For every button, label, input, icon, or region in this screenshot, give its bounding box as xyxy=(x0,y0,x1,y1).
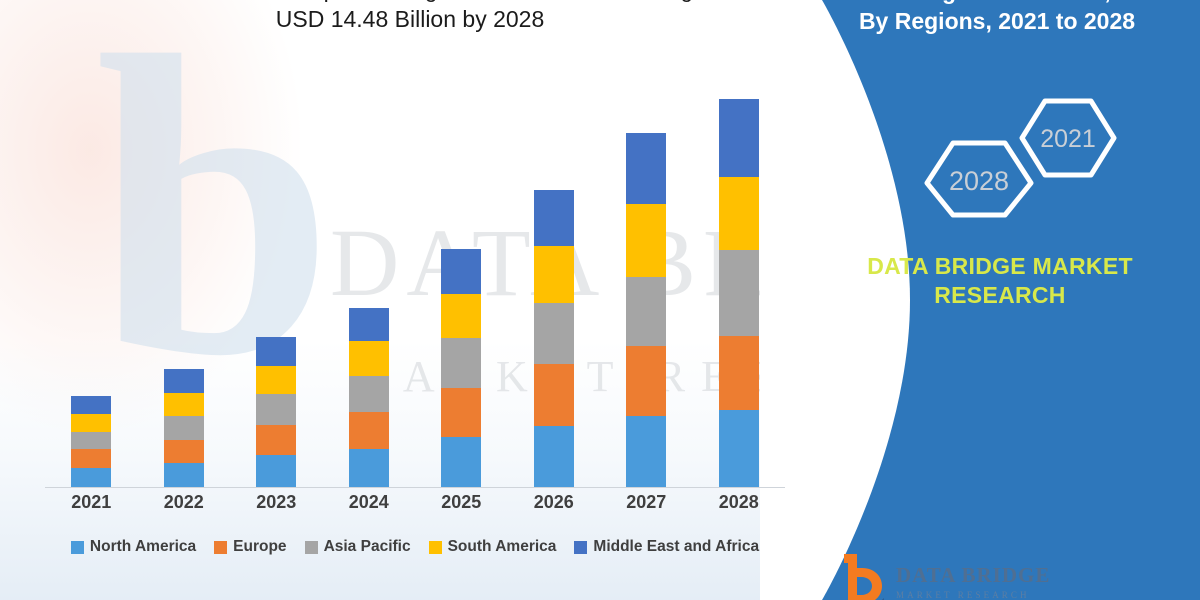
bar-segment[interactable] xyxy=(626,346,666,417)
bar-segment[interactable] xyxy=(626,277,666,345)
bar-segment[interactable] xyxy=(256,394,296,425)
legend-item[interactable]: Europe xyxy=(214,538,286,556)
bar-segment[interactable] xyxy=(534,364,574,425)
bar-slot xyxy=(606,90,687,487)
x-axis-tick-2024: 2024 xyxy=(328,492,409,522)
bar-segment[interactable] xyxy=(71,449,111,468)
legend-swatch-icon xyxy=(574,541,587,554)
footer-logo-text: DATA BRIDGE MARKET RESEARCH xyxy=(896,563,1050,600)
footer-logo-name: DATA BRIDGE xyxy=(896,563,1050,588)
footer-logo: DATA BRIDGE MARKET RESEARCH xyxy=(838,552,1050,600)
legend-label: North America xyxy=(90,538,196,556)
bar-segment[interactable] xyxy=(256,455,296,487)
brand-line-2: RESEARCH xyxy=(810,281,1190,310)
bar-slot xyxy=(698,90,779,487)
bar-segment[interactable] xyxy=(71,468,111,487)
chart-x-axis: 20212022202320242025202620272028 xyxy=(45,492,785,522)
infographic-canvas: b DATA BRIDGE MARKET RESEARCH Global mar… xyxy=(0,0,1200,600)
bar-segment[interactable] xyxy=(71,414,111,432)
x-axis-tick-2022: 2022 xyxy=(143,492,224,522)
bar-slot xyxy=(51,90,132,487)
bar-segment[interactable] xyxy=(349,341,389,376)
legend-item[interactable]: Asia Pacific xyxy=(305,538,411,556)
stacked-bar-2026[interactable] xyxy=(534,190,574,487)
bar-segment[interactable] xyxy=(349,449,389,487)
page-title: Global market is expected to grow at a C… xyxy=(40,0,780,34)
bar-segment[interactable] xyxy=(719,410,759,487)
legend-label: Asia Pacific xyxy=(324,538,411,556)
brand-line-1: DATA BRIDGE MARKET xyxy=(810,252,1190,281)
legend-label: Middle East and Africa xyxy=(593,538,759,556)
hexagon-2021-label: 2021 xyxy=(1040,125,1096,153)
bar-slot xyxy=(328,90,409,487)
bar-segment[interactable] xyxy=(534,303,574,364)
b-mark-icon xyxy=(838,552,886,600)
bar-segment[interactable] xyxy=(256,425,296,456)
legend-swatch-icon xyxy=(214,541,227,554)
bar-segment[interactable] xyxy=(719,250,759,336)
bar-segment[interactable] xyxy=(256,366,296,394)
bar-segment[interactable] xyxy=(626,133,666,204)
bar-segment[interactable] xyxy=(441,388,481,438)
bar-segment[interactable] xyxy=(626,416,666,487)
x-axis-tick-2028: 2028 xyxy=(698,492,779,522)
stacked-bar-2022[interactable] xyxy=(164,369,204,487)
bar-segment[interactable] xyxy=(256,337,296,365)
bar-segment[interactable] xyxy=(164,369,204,393)
stacked-bar-2027[interactable] xyxy=(626,133,666,487)
bar-segment[interactable] xyxy=(534,426,574,487)
hexagon-2028-label: 2028 xyxy=(949,166,1009,196)
bar-slot xyxy=(513,90,594,487)
x-axis-tick-2021: 2021 xyxy=(51,492,132,522)
stacked-bar-chart xyxy=(45,90,785,488)
x-axis-tick-2026: 2026 xyxy=(513,492,594,522)
x-axis-tick-2023: 2023 xyxy=(236,492,317,522)
legend-item[interactable]: Middle East and Africa xyxy=(574,538,759,556)
headline-line-2: USD 14.48 Billion by 2028 xyxy=(40,4,780,34)
legend-swatch-icon xyxy=(305,541,318,554)
bar-segment[interactable] xyxy=(719,99,759,177)
stacked-bar-2025[interactable] xyxy=(441,249,481,487)
legend-item[interactable]: North America xyxy=(71,538,196,556)
bar-segment[interactable] xyxy=(71,396,111,414)
stacked-bar-2023[interactable] xyxy=(256,337,296,487)
bar-segment[interactable] xyxy=(626,204,666,277)
bar-segment[interactable] xyxy=(164,393,204,417)
bar-segment[interactable] xyxy=(719,336,759,410)
bar-segment[interactable] xyxy=(164,440,204,464)
bar-segment[interactable] xyxy=(534,246,574,303)
bar-segment[interactable] xyxy=(534,190,574,247)
bar-segment[interactable] xyxy=(441,338,481,388)
chart-plot-area xyxy=(45,90,785,488)
bar-segment[interactable] xyxy=(349,412,389,450)
legend-swatch-icon xyxy=(71,541,84,554)
bar-slot xyxy=(421,90,502,487)
legend-label: South America xyxy=(448,538,557,556)
stacked-bar-2028[interactable] xyxy=(719,99,759,487)
bar-segment[interactable] xyxy=(349,376,389,411)
chart-legend: North AmericaEuropeAsia PacificSouth Ame… xyxy=(45,538,785,556)
legend-label: Europe xyxy=(233,538,286,556)
bar-slot xyxy=(143,90,224,487)
bar-segment[interactable] xyxy=(164,416,204,440)
stacked-bar-2021[interactable] xyxy=(71,396,111,487)
stacked-bar-2024[interactable] xyxy=(349,308,389,487)
bar-segment[interactable] xyxy=(719,177,759,250)
bar-segment[interactable] xyxy=(441,294,481,339)
x-axis-tick-2025: 2025 xyxy=(421,492,502,522)
bar-segment[interactable] xyxy=(71,432,111,450)
bar-segment[interactable] xyxy=(441,249,481,294)
legend-swatch-icon xyxy=(429,541,442,554)
bar-segment[interactable] xyxy=(164,463,204,487)
brand-name: DATA BRIDGE MARKET RESEARCH xyxy=(810,252,1190,310)
x-axis-tick-2027: 2027 xyxy=(606,492,687,522)
legend-item[interactable]: South America xyxy=(429,538,557,556)
hexagon-year-badges: 2021 2028 xyxy=(915,95,1135,220)
bar-slot xyxy=(236,90,317,487)
footer-logo-tagline: MARKET RESEARCH xyxy=(896,590,1050,600)
bar-segment[interactable] xyxy=(349,308,389,341)
panel-title: Management Market, By Regions, 2021 to 2… xyxy=(802,0,1192,36)
bar-segment[interactable] xyxy=(441,437,481,487)
panel-title-line-2: By Regions, 2021 to 2028 xyxy=(802,6,1192,36)
